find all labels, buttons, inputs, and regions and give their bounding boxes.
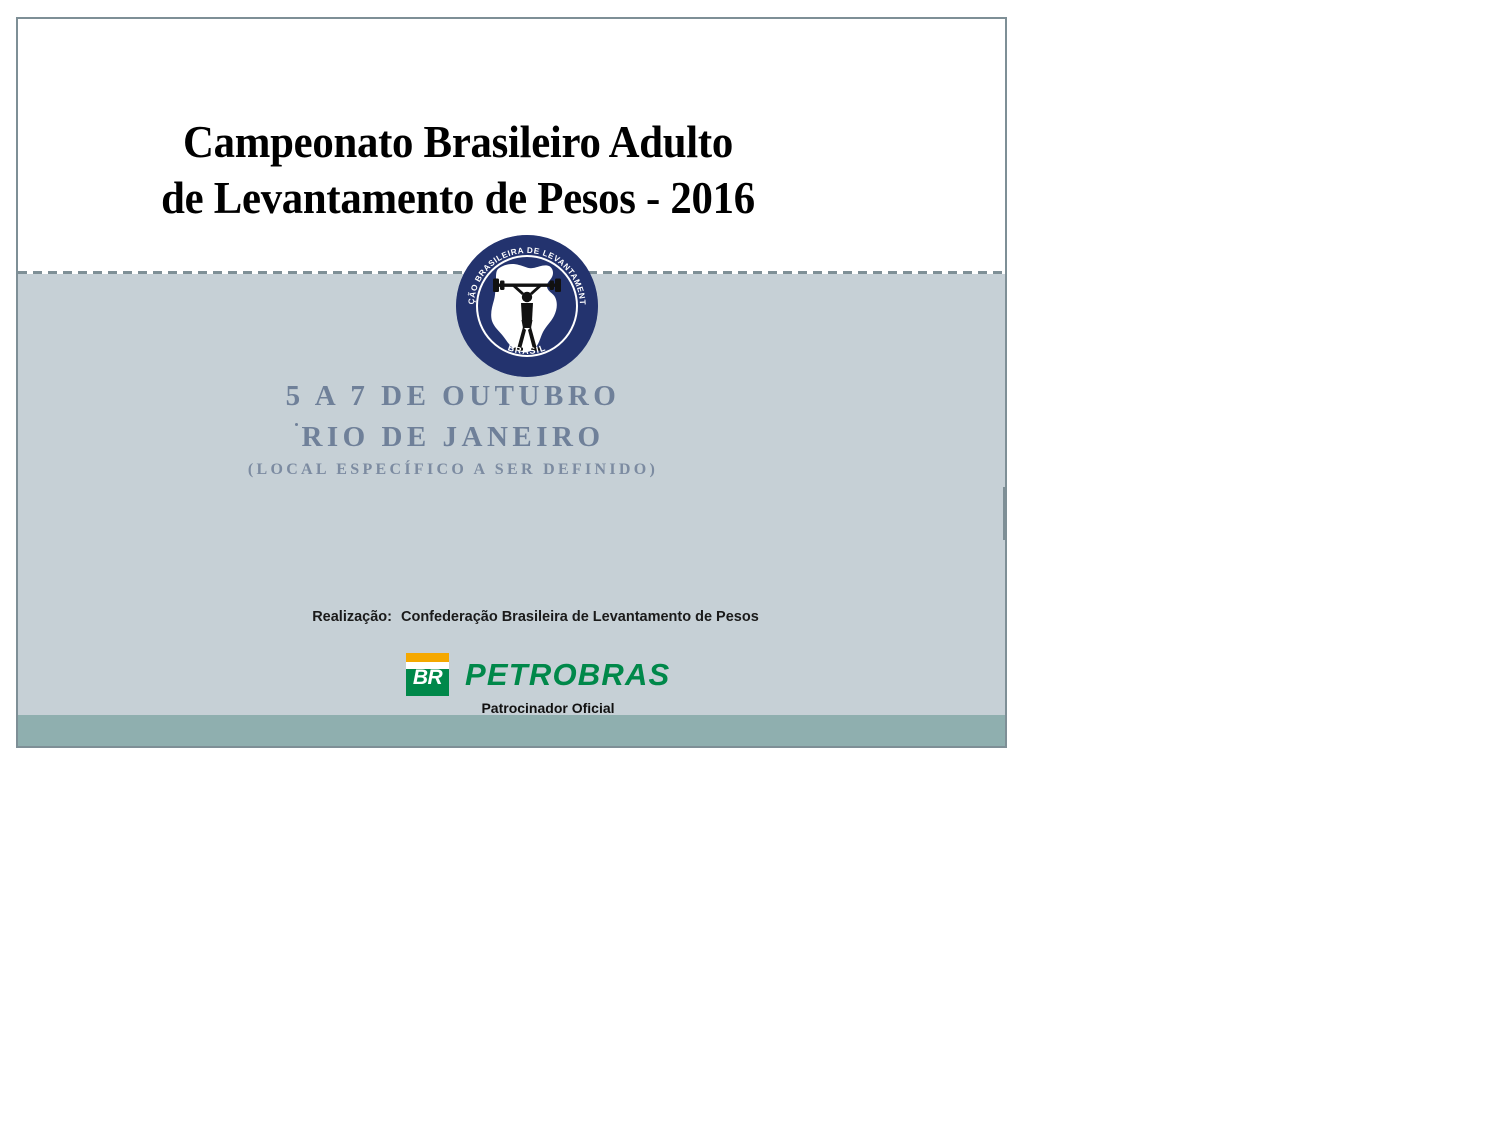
event-venue-note: (LOCAL ESPECÍFICO A SER DEFINIDO) [18, 458, 888, 482]
petrobras-logo: BR PETROBRAS [406, 653, 670, 696]
organizer-label: Realização: [312, 609, 392, 625]
organizer-line: Realização:Confederação Brasileira de Le… [18, 609, 1053, 625]
footer-band [18, 715, 1007, 748]
event-info: 5 A 7 DE OUTUBRO RIO DE JANEIRO (LOCAL E… [18, 376, 888, 482]
event-dates: 5 A 7 DE OUTUBRO [18, 376, 888, 417]
slide-border-right [1005, 17, 1007, 748]
page-title: Campeonato Brasileiro Adulto de Levantam… [18, 114, 898, 226]
sponsor-caption: Patrocinador Oficial [18, 700, 1078, 716]
slide-border-bottom [16, 746, 1007, 748]
federation-emblem: CONFEDERAÇÃO BRASILEIRA DE LEVANTAMENTO … [454, 233, 600, 379]
br-mark-icon: BR [406, 653, 449, 696]
organizer-name: Confederação Brasileira de Levantamento … [401, 609, 759, 625]
title-line-1: Campeonato Brasileiro Adulto [49, 114, 867, 170]
br-mark-label: BR [406, 666, 449, 690]
petrobras-wordmark: PETROBRAS [465, 657, 670, 693]
slide-border-right-segment [1003, 487, 1007, 540]
presentation-slide: Campeonato Brasileiro Adulto de Levantam… [16, 17, 1007, 748]
weightlifter-brazil-map-emblem: CONFEDERAÇÃO BRASILEIRA DE LEVANTAMENTO … [454, 233, 600, 379]
event-city: RIO DE JANEIRO [18, 417, 888, 458]
title-line-2: de Levantamento de Pesos - 2016 [49, 170, 867, 226]
